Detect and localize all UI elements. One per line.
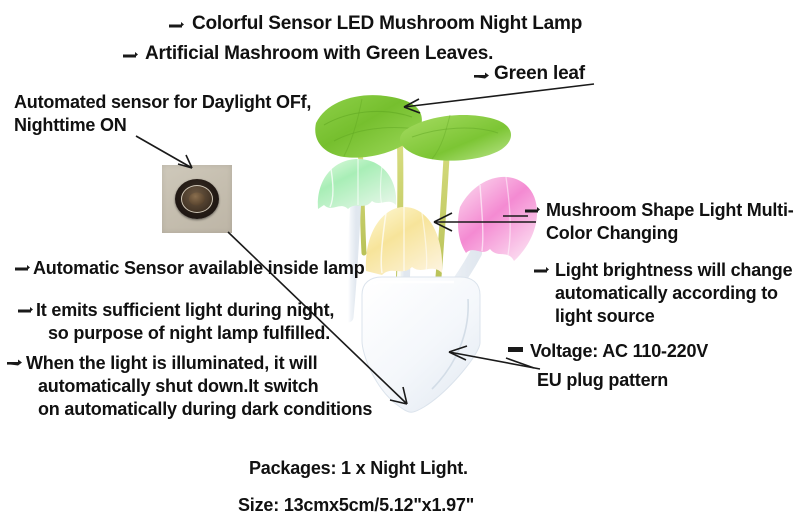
annotation-line: EU plug pattern [537, 369, 668, 392]
annotation-size: Size: 13cmx5cm/5.12"x1.97" [238, 494, 474, 517]
green-leaves [315, 95, 511, 161]
arrow-dash-bullet-icon [6, 358, 23, 367]
arrow-dash-bullet-icon [168, 20, 185, 29]
annotation-light-brightness-change: Light brightness will change automatical… [555, 259, 792, 328]
annotation-line: Packages: 1 x Night Light. [249, 457, 468, 480]
annotation-line: Green leaf [494, 62, 585, 86]
annotation-automatic-sensor-inside-lamp: Automatic Sensor available inside lamp [33, 257, 365, 280]
arrow-dash-bullet-icon [473, 71, 490, 80]
mushroom-cap-green [318, 159, 396, 209]
annotation-line: so purpose of night lamp fulfilled. [36, 322, 334, 345]
annotation-voltage: Voltage: AC 110-220V [530, 340, 708, 363]
annotation-line: Automated sensor for Daylight OFf, [14, 91, 311, 114]
annotation-line: on automatically during dark conditions [26, 398, 372, 421]
annotation-packages: Packages: 1 x Night Light. [249, 457, 468, 480]
annotation-line: Size: 13cmx5cm/5.12"x1.97" [238, 494, 474, 517]
arrow-dash-bullet-icon [122, 50, 139, 59]
annotation-line: When the light is illuminated, it will [26, 352, 372, 375]
leader-automated-sensor [136, 136, 192, 168]
annotation-auto-shutdown: When the light is illuminated, it will a… [26, 352, 372, 421]
lamp-base [362, 277, 480, 412]
annotation-line: automatically shut down.It switch [26, 375, 372, 398]
arrow-dash-bullet-icon [17, 305, 34, 314]
annotation-line: automatically according to [555, 282, 792, 305]
annotation-line: Nighttime ON [14, 114, 311, 137]
annotation-automated-sensor-daylight: Automated sensor for Daylight OFf, Night… [14, 91, 311, 137]
annotation-line: Voltage: AC 110-220V [530, 340, 708, 363]
annotation-line: Automatic Sensor available inside lamp [33, 257, 365, 280]
annotation-green-leaf: Green leaf [494, 62, 585, 86]
annotation-line: Mushroom Shape Light Multi- [546, 199, 794, 222]
annotation-line: Colorful Sensor LED Mushroom Night Lamp [192, 12, 582, 36]
sensor-lens-icon [189, 193, 205, 206]
annotation-line: Light brightness will change [555, 259, 792, 282]
mushroom-cap-pink [458, 177, 537, 261]
product-infographic: Colorful Sensor LED Mushroom Night Lamp … [0, 0, 800, 531]
annotation-line: It emits sufficient light during night, [36, 299, 334, 322]
annotation-line: light source [555, 305, 792, 328]
arrow-dash-bullet-icon [14, 263, 31, 272]
annotation-line: Color Changing [546, 222, 794, 245]
annotation-artificial-mushroom: Artificial Mashroom with Green Leaves. [145, 42, 493, 66]
sensor-photo-inset [162, 165, 232, 233]
annotation-eu-plug-pattern: EU plug pattern [537, 369, 668, 392]
annotation-mushroom-shape-multicolor: Mushroom Shape Light Multi- Color Changi… [546, 199, 794, 245]
annotation-colorful-sensor-led: Colorful Sensor LED Mushroom Night Lamp [192, 12, 582, 36]
annotation-line: Artificial Mashroom with Green Leaves. [145, 42, 493, 66]
mushroom-cap-yellow [366, 207, 442, 275]
annotation-emits-sufficient-light: It emits sufficient light during night, … [36, 299, 334, 345]
